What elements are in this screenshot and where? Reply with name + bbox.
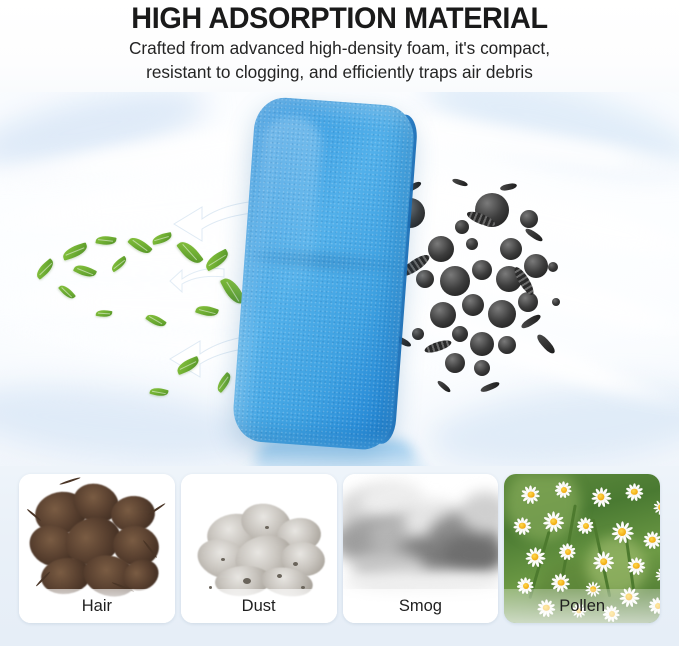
daisy-flower (656, 568, 660, 582)
foam-front-face (231, 96, 416, 452)
card-label: Pollen (504, 589, 660, 623)
daisy-flower (628, 558, 644, 574)
subtitle-line-2: resistant to clogging, and efficiently t… (5, 60, 674, 84)
contaminant-card-list: Hair Dust (0, 474, 679, 624)
subtitle-line-1: Crafted from advanced high-density foam,… (129, 38, 550, 58)
foam-highlight (243, 114, 323, 417)
daisy-flower (654, 500, 660, 514)
product-scene (0, 88, 679, 470)
card-label: Hair (19, 589, 175, 623)
card-pollen[interactable]: Pollen (504, 474, 660, 623)
daisy-flower (592, 488, 610, 506)
foam-filter-product (230, 96, 441, 469)
page-title: HIGH ADSORPTION MATERIAL (14, 2, 666, 36)
promo-banner: HIGH ADSORPTION MATERIAL Crafted from ad… (0, 0, 679, 646)
daisy-flower (556, 482, 571, 497)
card-smog[interactable]: Smog (343, 474, 499, 623)
daisy-flower (594, 552, 613, 571)
daisy-flower (526, 548, 544, 566)
daisy-flower (578, 518, 593, 533)
airflow-arrow-icon (168, 264, 228, 303)
daisy-flower (514, 518, 530, 534)
card-label: Dust (181, 589, 337, 623)
header: HIGH ADSORPTION MATERIAL Crafted from ad… (0, 0, 679, 92)
card-hair[interactable]: Hair (19, 474, 175, 623)
card-label: Smog (343, 589, 499, 623)
daisy-flower (626, 484, 642, 500)
daisy-flower (644, 532, 660, 548)
card-dust[interactable]: Dust (181, 474, 337, 623)
daisy-flower (522, 486, 539, 503)
daisy-flower (612, 522, 632, 542)
foam-crease (250, 248, 401, 275)
daisy-flower (544, 512, 563, 531)
daisy-flower (560, 544, 575, 559)
subtitle: Crafted from advanced high-density foam,… (5, 36, 674, 84)
